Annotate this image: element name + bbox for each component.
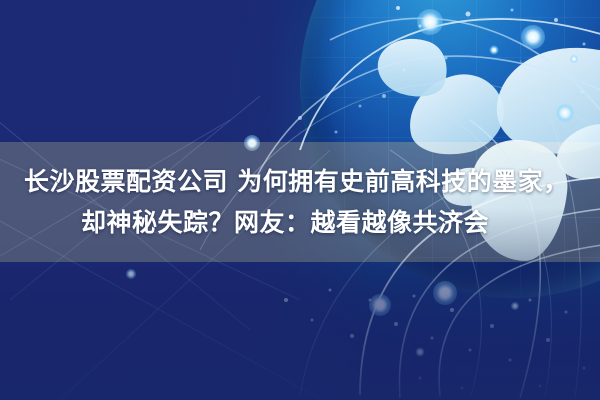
particle-dot <box>445 57 448 60</box>
particle-dot <box>581 91 584 94</box>
headline-line-1: 长沙股票配资公司 为何拥有史前高科技的墨家， <box>18 161 582 202</box>
particle-dot <box>403 69 406 72</box>
particle-dot <box>511 9 514 12</box>
article-banner: 长沙股票配资公司 为何拥有史前高科技的墨家， 却神秘失踪？网友：越看越像共济会 <box>0 0 600 400</box>
glow-node <box>521 25 545 49</box>
particle-dot <box>554 18 558 22</box>
particle-dot <box>359 105 362 108</box>
glow-node <box>490 46 499 55</box>
particle-dot <box>396 6 400 10</box>
glow-node <box>570 55 578 63</box>
glow-node <box>556 104 574 122</box>
headline: 长沙股票配资公司 为何拥有史前高科技的墨家， 却神秘失踪？网友：越看越像共济会 <box>0 142 600 262</box>
particle-dot <box>519 67 522 70</box>
particle-dot <box>419 25 422 28</box>
particle-dot <box>583 43 586 46</box>
glow-node <box>417 9 443 35</box>
particle-dot <box>335 131 338 134</box>
particle-dot <box>390 44 394 48</box>
headline-line-2: 却神秘失踪？网友：越看越像共济会 <box>18 202 582 243</box>
particle-dot <box>466 12 471 17</box>
particle-dot <box>298 116 302 120</box>
particle-dot <box>382 94 386 98</box>
